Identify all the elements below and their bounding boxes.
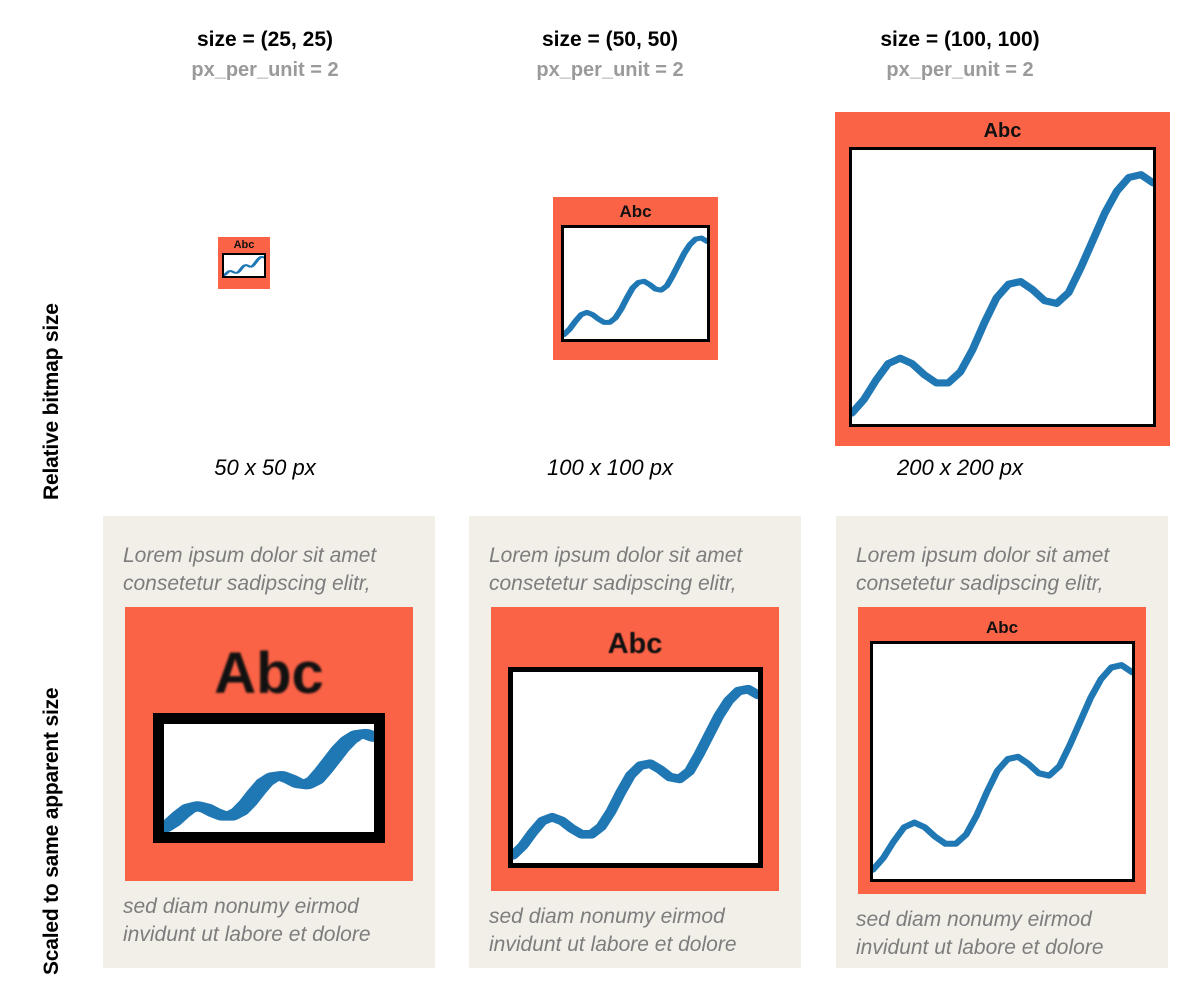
line-plot-svg — [513, 672, 758, 863]
bitmap-card-100: Abc — [835, 112, 1170, 446]
bitmap-label: Abc — [986, 619, 1018, 636]
bitmap-card-25: Abc — [218, 237, 270, 289]
bitmap-card-50: Abc — [553, 197, 718, 360]
lorem-text-bottom: sed diam nonumy eirmod invidunt ut labor… — [489, 903, 781, 958]
column-title: size = (25, 25) — [95, 28, 435, 52]
row-label-scaled-to-same-apparent-size: Scaled to same apparent size — [40, 688, 64, 975]
lorem-text-top: Lorem ipsum dolor sit amet consetetur sa… — [856, 542, 1148, 597]
line-plot — [153, 713, 385, 843]
text-panel-2: Lorem ipsum dolor sit amet consetetur sa… — [836, 516, 1168, 968]
column-header-0: size = (25, 25) px_per_unit = 2 — [95, 28, 435, 82]
line-plot-svg — [852, 150, 1153, 424]
bitmap-card-scaled-25: Abc — [125, 607, 413, 881]
lorem-text-top: Lorem ipsum dolor sit amet consetetur sa… — [123, 542, 415, 597]
line-plot — [849, 147, 1156, 427]
line-plot-svg — [873, 644, 1132, 879]
column-subtitle: px_per_unit = 2 — [95, 59, 435, 82]
px-caption-1: 100 x 100 px — [440, 455, 780, 481]
bitmap-label: Abc — [984, 121, 1022, 141]
column-header-2: size = (100, 100) px_per_unit = 2 — [790, 28, 1130, 82]
column-subtitle: px_per_unit = 2 — [440, 59, 780, 82]
line-plot — [870, 641, 1135, 882]
column-title: size = (50, 50) — [440, 28, 780, 52]
bitmap-label: Abc — [234, 240, 255, 251]
px-caption-2: 200 x 200 px — [790, 455, 1130, 481]
lorem-text-top: Lorem ipsum dolor sit amet consetetur sa… — [489, 542, 781, 597]
column-subtitle: px_per_unit = 2 — [790, 59, 1130, 82]
line-plot-svg — [164, 724, 374, 832]
row-label-relative-bitmap-size: Relative bitmap size — [40, 303, 64, 500]
column-header-1: size = (50, 50) px_per_unit = 2 — [440, 28, 780, 82]
line-plot-svg — [564, 228, 707, 339]
bitmap-label: Abc — [214, 645, 324, 703]
line-plot — [222, 253, 266, 278]
bitmap-card-scaled-100: Abc — [858, 607, 1146, 894]
text-panel-1: Lorem ipsum dolor sit amet consetetur sa… — [469, 516, 801, 968]
bitmap-card-scaled-50: Abc — [491, 607, 779, 891]
text-panel-0: Lorem ipsum dolor sit amet consetetur sa… — [103, 516, 435, 968]
bitmap-label: Abc — [619, 203, 651, 220]
line-plot — [561, 225, 710, 342]
line-plot — [508, 667, 763, 868]
px-caption-0: 50 x 50 px — [95, 455, 435, 481]
lorem-text-bottom: sed diam nonumy eirmod invidunt ut labor… — [123, 893, 415, 948]
line-plot-svg — [224, 255, 264, 276]
bitmap-label: Abc — [608, 630, 663, 659]
lorem-text-bottom: sed diam nonumy eirmod invidunt ut labor… — [856, 906, 1148, 961]
column-title: size = (100, 100) — [790, 28, 1130, 52]
